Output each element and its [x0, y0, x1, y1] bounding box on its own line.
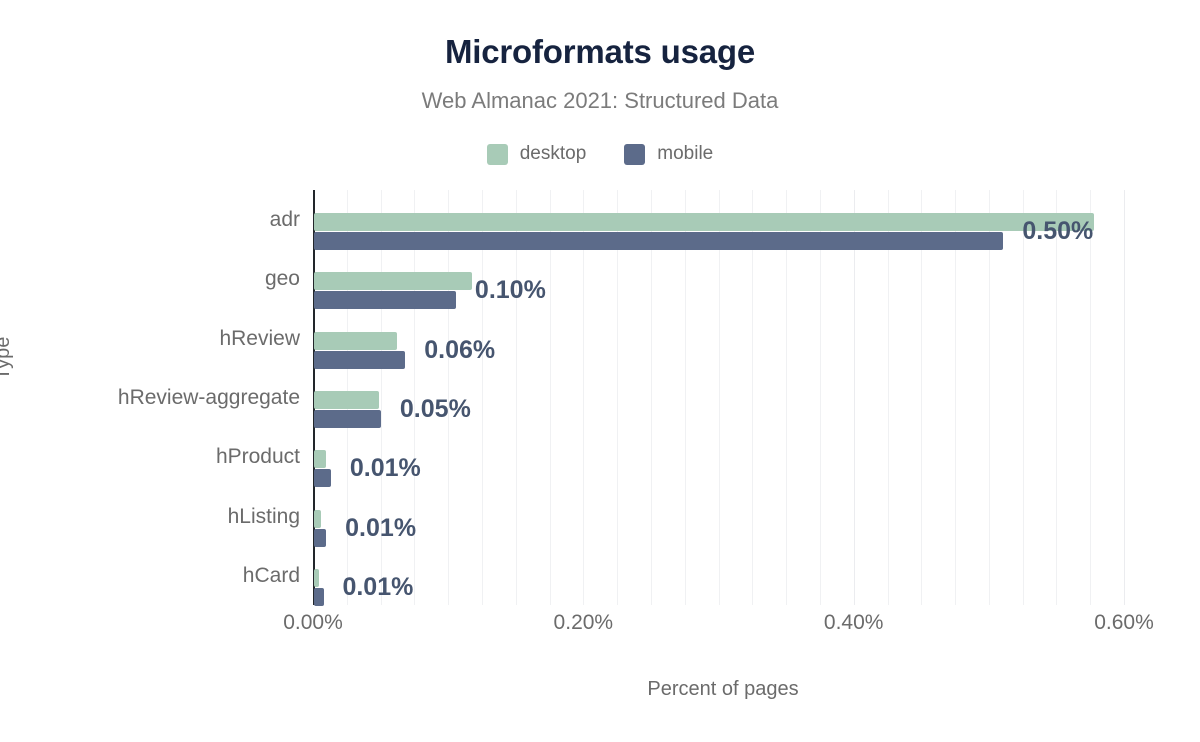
chart-legend: desktopmobile — [0, 143, 1200, 165]
plot-area: 0.50%0.10%0.06%0.05%0.01%0.01%0.01% — [313, 190, 1200, 605]
x-tick-1: 0.20% — [554, 611, 614, 635]
bar-value-label-hListing: 0.01% — [345, 514, 416, 543]
bar-value-label-hReview: 0.06% — [424, 336, 495, 365]
chart-title: Microformats usage — [0, 33, 1200, 71]
legend-label: mobile — [657, 143, 713, 165]
bar-value-label-geo: 0.10% — [475, 276, 546, 305]
bar-desktop-hListing[interactable] — [314, 510, 321, 528]
x-axis-tick-labels: 0.00%0.20%0.40%0.60% — [313, 611, 1200, 641]
y-axis-label-geo: geo — [0, 267, 300, 291]
legend-item-mobile[interactable]: mobile — [624, 143, 713, 165]
bar-desktop-geo[interactable] — [314, 272, 472, 290]
bar-value-label-adr: 0.50% — [1022, 217, 1093, 246]
y-axis-label-hReview: hReview — [0, 327, 300, 351]
x-tick-3: 0.60% — [1094, 611, 1154, 635]
y-axis-label-hListing: hListing — [0, 505, 300, 529]
legend-swatch-icon — [624, 144, 645, 165]
y-axis-title: Type — [0, 337, 15, 380]
chart-root: Microformats usage Web Almanac 2021: Str… — [0, 0, 1200, 742]
bar-desktop-hProduct[interactable] — [314, 450, 326, 468]
bar-group-geo: 0.10% — [313, 249, 1200, 308]
y-axis-label-hProduct: hProduct — [0, 445, 300, 469]
y-axis-label-adr: adr — [0, 208, 300, 232]
bar-mobile-adr[interactable] — [314, 232, 1003, 250]
bar-mobile-hCard[interactable] — [314, 588, 324, 606]
bar-value-label-hCard: 0.01% — [342, 573, 413, 602]
bar-desktop-hReview-aggregate[interactable] — [314, 391, 379, 409]
legend-label: desktop — [520, 143, 587, 165]
bar-group-hListing: 0.01% — [313, 487, 1200, 546]
x-tick-2: 0.40% — [824, 611, 884, 635]
bar-desktop-hReview[interactable] — [314, 332, 397, 350]
legend-item-desktop[interactable]: desktop — [487, 143, 587, 165]
bar-group-hProduct: 0.01% — [313, 427, 1200, 486]
bar-mobile-hReview[interactable] — [314, 351, 405, 369]
bar-value-label-hProduct: 0.01% — [350, 454, 421, 483]
y-axis-label-hCard: hCard — [0, 564, 300, 588]
y-axis-category-labels: adrgeohReviewhReview-aggregatehProducthL… — [0, 190, 300, 605]
bar-group-hReview: 0.06% — [313, 309, 1200, 368]
bar-value-label-hReview-aggregate: 0.05% — [400, 395, 471, 424]
x-tick-0: 0.00% — [283, 611, 343, 635]
y-axis-label-hReview-aggregate: hReview-aggregate — [0, 386, 300, 410]
bar-mobile-geo[interactable] — [314, 291, 456, 309]
bar-group-adr: 0.50% — [313, 190, 1200, 249]
bar-mobile-hProduct[interactable] — [314, 469, 331, 487]
bar-group-hCard: 0.01% — [313, 546, 1200, 605]
bar-desktop-hCard[interactable] — [314, 569, 319, 587]
bar-desktop-adr[interactable] — [314, 213, 1094, 231]
bar-group-hReview-aggregate: 0.05% — [313, 368, 1200, 427]
legend-swatch-icon — [487, 144, 508, 165]
chart-subtitle: Web Almanac 2021: Structured Data — [0, 88, 1200, 114]
bar-mobile-hListing[interactable] — [314, 529, 326, 547]
x-axis-title: Percent of pages — [313, 678, 1133, 701]
bar-mobile-hReview-aggregate[interactable] — [314, 410, 381, 428]
